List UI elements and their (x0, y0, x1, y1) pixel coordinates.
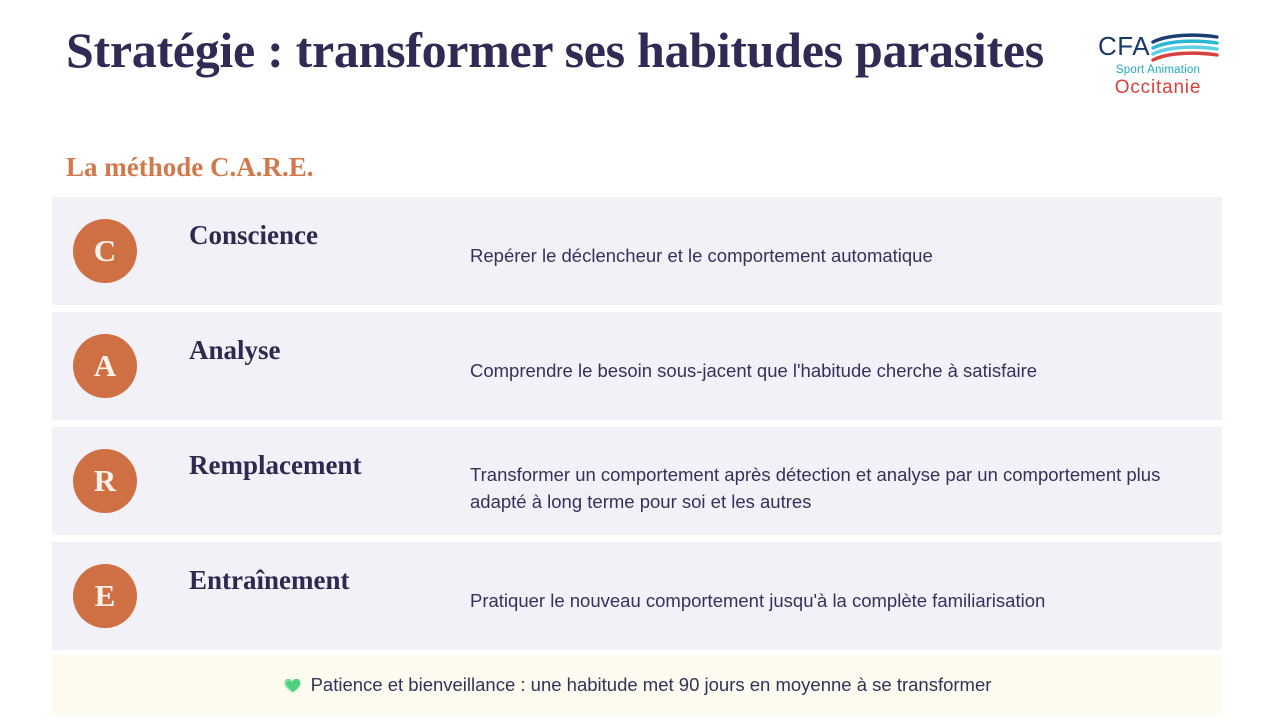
step-body: Entraînement Pratiquer le nouveau compor… (137, 542, 1222, 650)
step-letter-badge: A (73, 334, 137, 398)
care-step-row: A Analyse Comprendre le besoin sous-jace… (52, 312, 1222, 420)
care-step-row: E Entraînement Pratiquer le nouveau comp… (52, 542, 1222, 650)
care-step-row: R Remplacement Transformer un comporteme… (52, 427, 1222, 535)
logo-occitanie-text: Occitanie (1098, 77, 1218, 99)
logo-waves-icon (1151, 33, 1219, 68)
page-title: Stratégie : transformer ses habitudes pa… (66, 22, 1056, 78)
step-title: Analyse (189, 334, 281, 366)
step-letter-badge: R (73, 449, 137, 513)
step-letter-badge: C (73, 219, 137, 283)
slide-header: Stratégie : transformer ses habitudes pa… (0, 0, 1280, 190)
step-description: Comprendre le besoin sous-jacent que l'h… (470, 357, 1210, 384)
step-description: Transformer un comportement après détect… (470, 461, 1210, 515)
care-step-row: C Conscience Repérer le déclencheur et l… (52, 197, 1222, 305)
footer-note-text: Patience et bienveillance : une habitude… (311, 672, 992, 698)
step-letter-badge: E (73, 564, 137, 628)
care-steps-list: C Conscience Repérer le déclencheur et l… (52, 197, 1222, 657)
step-title: Conscience (189, 219, 318, 251)
step-description: Repérer le déclencheur et le comportemen… (470, 242, 1210, 269)
step-body: Remplacement Transformer un comportement… (137, 427, 1222, 535)
step-body: Conscience Repérer le déclencheur et le … (137, 197, 1222, 305)
logo-top-row: CFA (1098, 32, 1224, 64)
step-title: Entraînement (189, 564, 349, 596)
cfa-logo: CFA Sport Animation Occitanie (1098, 32, 1224, 102)
footer-note-inner: Patience et bienveillance : une habitude… (283, 672, 992, 698)
logo-cfa-text: CFA (1098, 32, 1150, 60)
step-body: Analyse Comprendre le besoin sous-jacent… (137, 312, 1222, 420)
page-subtitle: La méthode C.A.R.E. (66, 150, 314, 184)
step-title: Remplacement (189, 449, 361, 481)
step-description: Pratiquer le nouveau comportement jusqu'… (470, 587, 1210, 614)
slide: Stratégie : transformer ses habitudes pa… (0, 0, 1280, 720)
green-heart-icon (283, 676, 302, 695)
footer-note-band: Patience et bienveillance : une habitude… (52, 655, 1222, 715)
